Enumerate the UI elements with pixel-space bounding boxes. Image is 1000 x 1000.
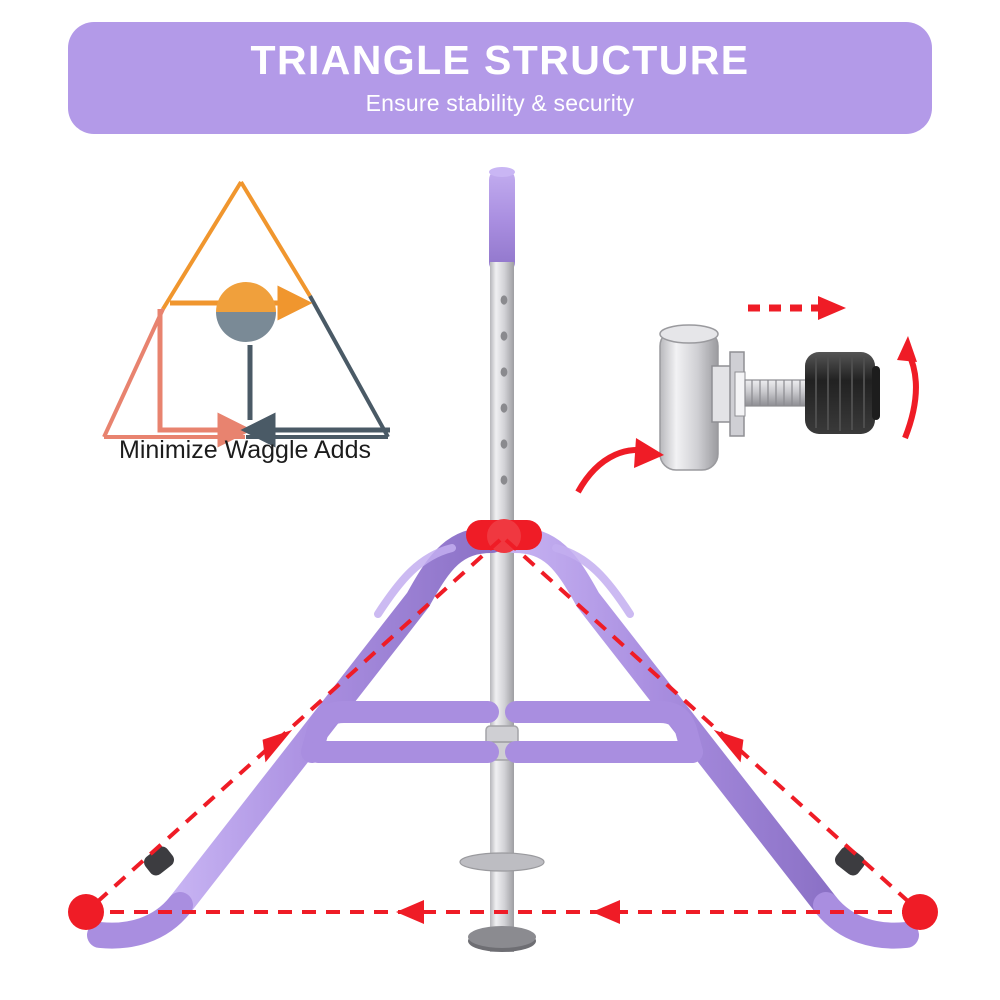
overlay-left-edge xyxy=(86,540,500,912)
overlay-arrow-markers xyxy=(260,726,747,924)
overlay-right-edge xyxy=(506,540,920,912)
diagram-page: TRIANGLE STRUCTURE Ensure stability & se… xyxy=(0,0,1000,1000)
overlay-triangle-layer xyxy=(0,0,1000,1000)
